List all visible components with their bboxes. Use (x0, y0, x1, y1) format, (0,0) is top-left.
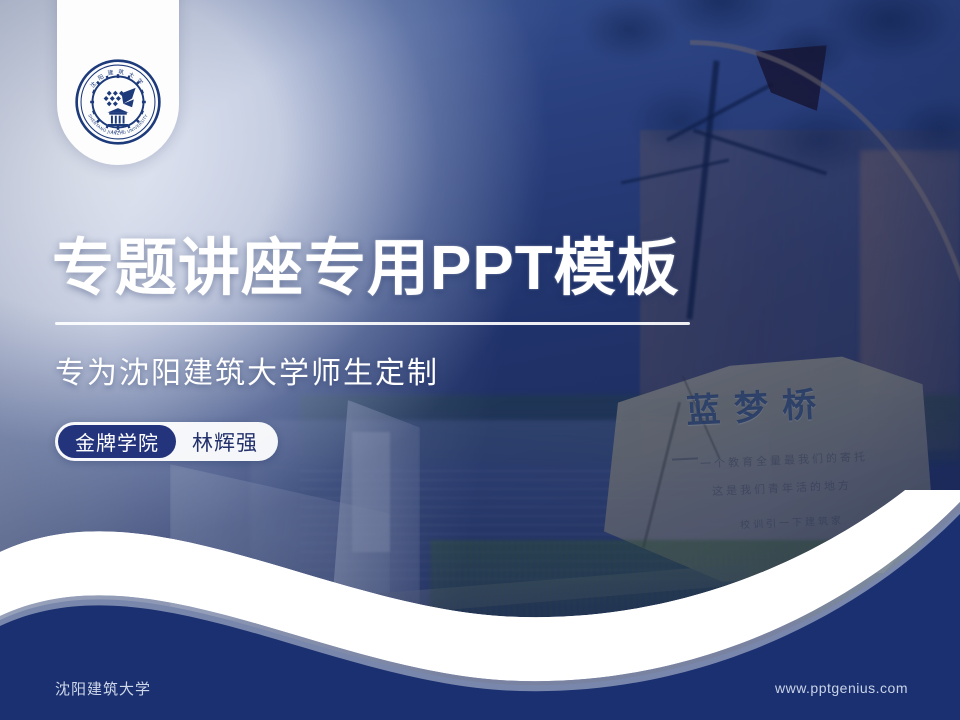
svg-text:1948: 1948 (111, 128, 124, 133)
presenter-name: 林辉强 (192, 427, 258, 457)
monument-inscription: 蓝梦桥 (685, 376, 831, 432)
footer-institution: 沈阳建筑大学 (55, 678, 151, 699)
footer-website[interactable]: www.pptgenius.com (775, 680, 908, 696)
page-title: 专题讲座专用PPT模板 (52, 238, 680, 300)
title-divider (55, 322, 690, 325)
badge-chip-label: 金牌学院 (58, 425, 176, 458)
university-logo-icon: 沈阳建筑大学 SHENYANG JIANZHU UNIVERSITY 1948 (74, 58, 162, 146)
page-subtitle: 专为沈阳建筑大学师生定制 (55, 348, 439, 392)
presentation-title-slide: 蓝梦桥 一个教育全量最我们的寄托 这是我们青年活的地方 校训引一下建筑家 (0, 0, 960, 720)
presenter-badge: 金牌学院 林辉强 (55, 422, 278, 461)
